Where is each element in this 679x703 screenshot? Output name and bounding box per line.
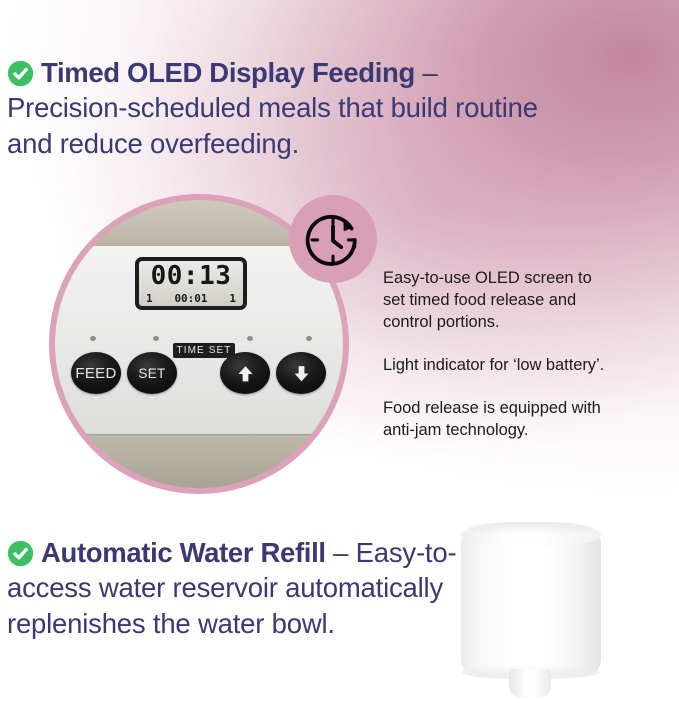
feeder-control-panel: 00:13 1 00:01 1 TIME SET FEED SET: [55, 244, 343, 439]
feed-button[interactable]: FEED: [71, 352, 121, 394]
feature-timed-oled-display-feeding: Timed OLED Display Feeding – Precision-s…: [7, 55, 559, 161]
feeder-lower-body: [55, 437, 343, 488]
feature-automatic-water-refill: Automatic Water Refill – Easy-to-access …: [7, 535, 459, 641]
up-button[interactable]: [220, 352, 270, 394]
feature-2-lead: Automatic Water Refill: [41, 537, 326, 568]
feed-button-label: FEED: [75, 365, 116, 382]
feature-2-dash: –: [326, 537, 356, 568]
clock-arrow-icon: [304, 210, 362, 268]
led-indicator-4: [306, 336, 312, 341]
green-check-circle-icon: [7, 60, 34, 87]
arrow-down-icon: [291, 363, 312, 384]
display-main-time: 00:13: [139, 262, 243, 290]
feature-1-text: Timed OLED Display Feeding – Precision-s…: [7, 55, 559, 161]
led-indicator-2: [153, 336, 159, 341]
arrow-up-icon: [235, 363, 256, 384]
reservoir-body: [461, 531, 601, 674]
water-reservoir-photo: [451, 519, 633, 703]
display-sub-left: 1: [146, 292, 153, 305]
feature-1-body: Precision-scheduled meals that build rou…: [7, 92, 538, 158]
led-indicator-1: [90, 336, 96, 341]
reservoir-spout: [509, 669, 551, 697]
feature-1-dash: –: [415, 57, 438, 88]
note-item: Light indicator for ‘low battery’.: [383, 355, 615, 377]
set-button[interactable]: SET: [127, 352, 177, 394]
display-sub-row: 1 00:01 1: [142, 292, 240, 305]
display-sub-right: 1: [229, 292, 236, 305]
set-button-label: SET: [138, 366, 165, 381]
note-item: Easy-to-use OLED screen to set timed foo…: [383, 268, 615, 334]
down-button[interactable]: [276, 352, 326, 394]
feature-1-lead: Timed OLED Display Feeding: [41, 57, 415, 88]
oled-display: 00:13 1 00:01 1: [135, 257, 247, 310]
clock-badge: [289, 195, 377, 283]
led-indicator-3: [247, 336, 253, 341]
time-set-label: TIME SET: [173, 343, 235, 358]
green-check-circle-icon: [7, 540, 34, 567]
notes-column: Easy-to-use OLED screen to set timed foo…: [383, 268, 615, 442]
display-sub-center: 00:01: [174, 292, 207, 305]
feature-2-text: Automatic Water Refill – Easy-to-access …: [7, 535, 459, 641]
reservoir-lid-shading: [467, 522, 595, 538]
note-item: Food release is equipped with anti-jam t…: [383, 398, 615, 442]
